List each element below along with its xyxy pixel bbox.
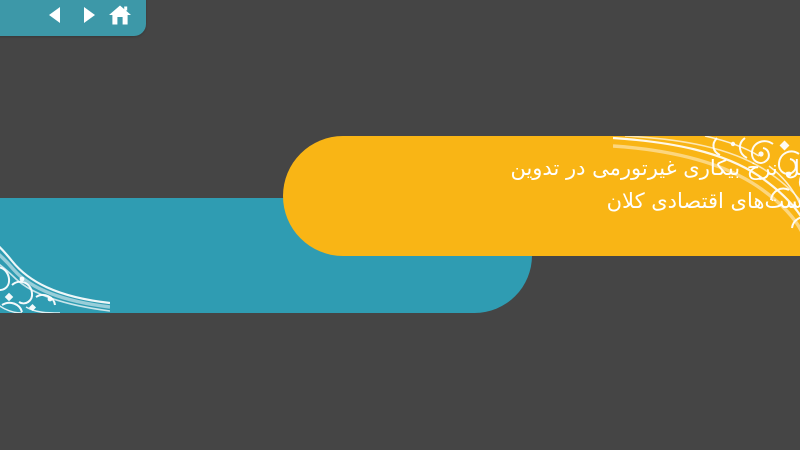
home-icon [108, 4, 132, 26]
back-button[interactable] [40, 0, 72, 30]
page-title: تحلیل نرخ بیکاری غیرتورمی در تدوین سیاست… [403, 152, 800, 217]
triangle-left-icon [46, 5, 66, 25]
slide-canvas: تحلیل نرخ بیکاری غیرتورمی در تدوین سیاست… [0, 0, 800, 450]
title-panel: تحلیل نرخ بیکاری غیرتورمی در تدوین سیاست… [283, 136, 800, 256]
arabesque-ornament-bottom-left [0, 198, 110, 313]
home-button[interactable] [104, 0, 136, 30]
navigation-bar [0, 0, 146, 36]
triangle-right-icon [78, 5, 98, 25]
forward-button[interactable] [72, 0, 104, 30]
